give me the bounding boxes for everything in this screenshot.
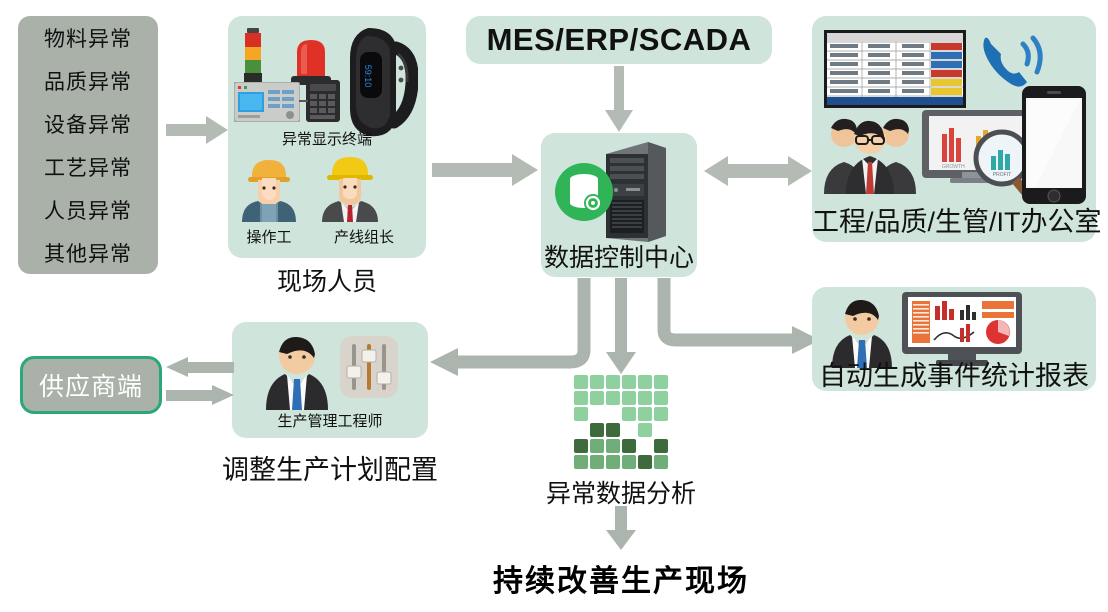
- grid-cell: [606, 375, 620, 389]
- engineer-panel-caption: 调整生产计划配置: [208, 448, 452, 487]
- supervisor-label: 产线组长: [318, 226, 410, 247]
- grid-cell: [622, 455, 636, 469]
- database-icon: [553, 161, 615, 228]
- grid-cell: [590, 407, 604, 421]
- grid-cell: [590, 423, 604, 437]
- arrow-datacenter-office-bidirectional: [704, 152, 812, 190]
- smart-band-icon: 59:10: [338, 24, 418, 145]
- grid-cell: [654, 391, 668, 405]
- grid-cell: [590, 455, 604, 469]
- grid-cell: [638, 423, 652, 437]
- grid-cell: [638, 391, 652, 405]
- grid-cell: [574, 439, 588, 453]
- arrow-analysis-to-title: [605, 506, 637, 550]
- mes-header-box: MES/ERP/SCADA: [466, 16, 772, 64]
- worker-icon: [238, 152, 300, 227]
- grid-cell: [574, 455, 588, 469]
- bottom-title: 持续改善生产现场: [421, 556, 821, 600]
- site-panel-caption: 现场人员: [228, 262, 426, 298]
- svg-text:GROWTH: GROWTH: [942, 164, 965, 170]
- grid-cell: [638, 455, 652, 469]
- arrow-datacenter-to-report: [648, 278, 820, 382]
- analysis-label: 异常数据分析: [536, 474, 706, 510]
- engineer-icon: [262, 330, 332, 415]
- grid-cell: [654, 455, 668, 469]
- smartphone-icon: [1022, 86, 1086, 209]
- grid-cell: [574, 407, 588, 421]
- alarm-item-4[interactable]: 人员异常: [18, 195, 158, 225]
- grid-cell: [638, 407, 652, 421]
- diagram-canvas: 物料异常 品质异常 设备异常 工艺异常 人员异常 其他异常: [0, 0, 1108, 612]
- keypad-icon: [306, 80, 340, 127]
- grid-cell: [574, 423, 588, 437]
- analysis-grid: [574, 375, 668, 469]
- dashboard-board-icon: [824, 30, 966, 113]
- grid-cell: [622, 375, 636, 389]
- grid-cell: [622, 439, 636, 453]
- engineer-role-label: 生产管理工程师: [232, 410, 428, 431]
- worker-label: 操作工: [232, 226, 306, 247]
- report-panel-label: 自动生成事件统计报表: [812, 354, 1096, 393]
- grid-cell: [590, 439, 604, 453]
- businessmen-group-icon: [822, 112, 918, 199]
- terminal-label: 异常显示终端: [228, 128, 426, 149]
- alarm-item-3[interactable]: 工艺异常: [18, 152, 158, 182]
- grid-cell: [654, 407, 668, 421]
- grid-cell: [654, 375, 668, 389]
- alarm-item-5[interactable]: 其他异常: [18, 238, 158, 268]
- grid-cell: [590, 375, 604, 389]
- grid-cell: [654, 423, 668, 437]
- grid-cell: [590, 391, 604, 405]
- grid-cell: [638, 439, 652, 453]
- data-center-label: 数据控制中心: [541, 238, 697, 274]
- grid-cell: [622, 391, 636, 405]
- supervisor-icon: [318, 150, 382, 227]
- arrow-datacenter-to-engineer: [420, 278, 600, 394]
- grid-cell: [654, 439, 668, 453]
- grid-cell: [574, 375, 588, 389]
- arrow-supplier-to-engineer: [166, 384, 234, 406]
- andon-panel-icon: [234, 82, 300, 127]
- grid-cell: [606, 423, 620, 437]
- alarm-item-1[interactable]: 品质异常: [18, 66, 158, 96]
- grid-cell: [622, 423, 636, 437]
- alarm-type-list: 物料异常 品质异常 设备异常 工艺异常 人员异常 其他异常: [18, 16, 158, 274]
- grid-cell: [606, 439, 620, 453]
- office-panel-label: 工程/品质/生管/IT办公室: [812, 200, 1096, 239]
- grid-cell: [622, 407, 636, 421]
- svg-text:59:10: 59:10: [363, 65, 373, 88]
- arrow-site-to-datacenter: [432, 152, 538, 188]
- arrow-alarm-to-site: [166, 114, 228, 146]
- grid-cell: [574, 391, 588, 405]
- svg-text:PROFIT: PROFIT: [993, 172, 1011, 178]
- supplier-label: 供应商端: [39, 367, 143, 403]
- arrow-datacenter-to-analysis: [605, 278, 637, 374]
- grid-cell: [606, 391, 620, 405]
- grid-cell: [606, 455, 620, 469]
- arrow-mes-to-datacenter: [603, 66, 635, 132]
- mes-header-label: MES/ERP/SCADA: [487, 22, 752, 58]
- connector-line: [299, 100, 308, 102]
- alarm-item-0[interactable]: 物料异常: [18, 23, 158, 53]
- grid-cell: [638, 375, 652, 389]
- sliders-icon: [340, 336, 398, 403]
- arrow-engineer-to-supplier: [166, 356, 234, 378]
- supplier-box[interactable]: 供应商端: [20, 356, 162, 414]
- grid-cell: [606, 407, 620, 421]
- alarm-item-2[interactable]: 设备异常: [18, 109, 158, 139]
